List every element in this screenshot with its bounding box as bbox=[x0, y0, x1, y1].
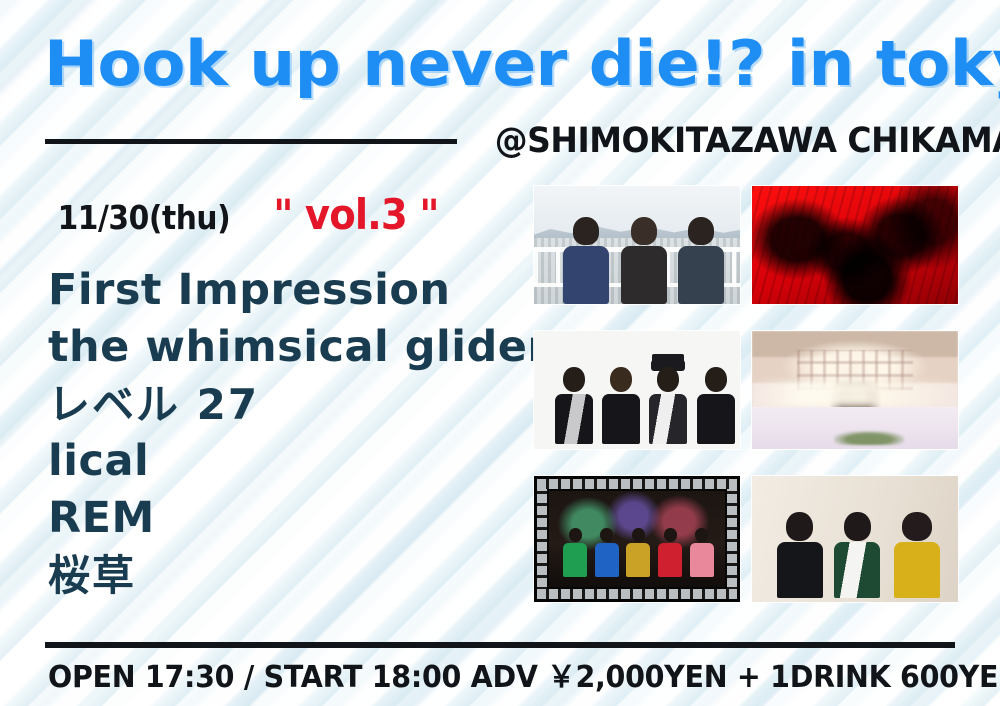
venue-row: @SHIMOKITAZAWA CHIKAMATSU bbox=[45, 118, 955, 164]
artist-photo-grid bbox=[534, 186, 958, 602]
event-date: 11/30(thu) bbox=[58, 199, 231, 237]
photo-dreamy-figure bbox=[752, 331, 958, 449]
footer-divider-rule bbox=[45, 642, 955, 648]
lineup-item: レベル 27 bbox=[48, 376, 538, 433]
event-volume: " vol.3 " bbox=[273, 193, 438, 237]
venue-name: @SHIMOKITAZAWA CHIKAMATSU bbox=[495, 121, 1000, 161]
lineup-item: 桜草 bbox=[48, 547, 538, 604]
photo-band-beige bbox=[752, 476, 958, 602]
venue-divider-rule bbox=[45, 139, 457, 144]
ticket-info: OPEN 17:30 / START 18:00 ADV ￥2,000YEN +… bbox=[48, 658, 913, 698]
lineup-item: REM bbox=[48, 490, 538, 547]
lineup-item: lical bbox=[48, 433, 538, 490]
lineup-item: First Impression bbox=[48, 262, 538, 319]
photo-band-white-four bbox=[534, 331, 740, 449]
date-row: 11/30(thu) " vol.3 " bbox=[48, 193, 446, 237]
photo-band-red-live bbox=[752, 186, 958, 304]
concert-flyer: Hook up never die!? in tokyo @SHIMOKITAZ… bbox=[0, 0, 1000, 706]
lineup-list: First Impression the whimsical glider レベ… bbox=[48, 262, 538, 604]
lineup-item: the whimsical glider bbox=[48, 319, 538, 376]
flyer-title: Hook up never die!? in tokyo bbox=[44, 24, 1000, 104]
photo-live-framed bbox=[534, 476, 740, 602]
photo-band-rooftop bbox=[534, 186, 740, 304]
